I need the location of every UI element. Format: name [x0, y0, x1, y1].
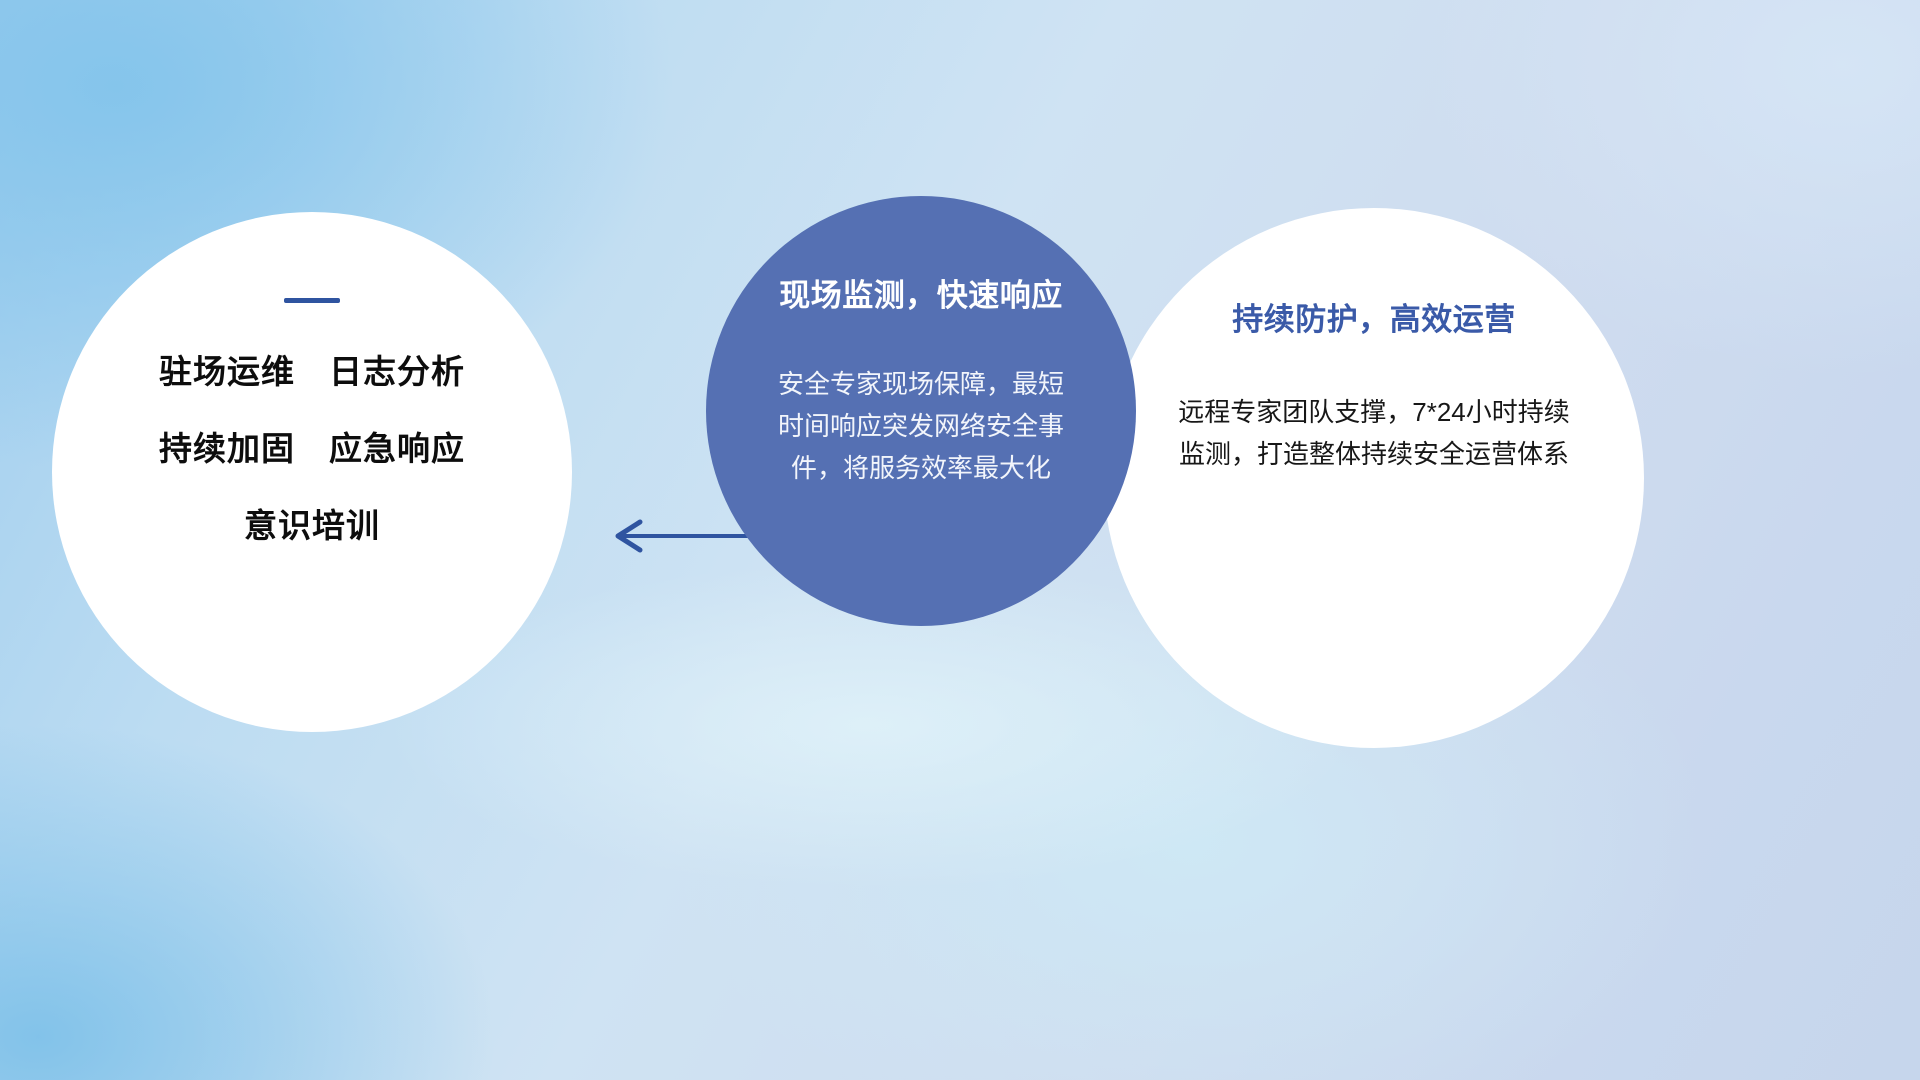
onsite-monitoring-body: 安全专家现场保障，最短时间响应突发网络安全事件，将服务效率最大化 — [771, 363, 1071, 489]
continuous-protection-title: 持续防护，高效运营 — [1232, 304, 1516, 335]
infographic-canvas: 驻场运维 日志分析 持续加固 应急响应 意识培训 现场监测，快速响应 安全专家现… — [0, 0, 1920, 1080]
capability-line-3: 意识培训 — [244, 509, 380, 542]
capabilities-circle: 驻场运维 日志分析 持续加固 应急响应 意识培训 — [52, 212, 572, 732]
continuous-protection-circle: 持续防护，高效运营 远程专家团队支撑，7*24小时持续监测，打造整体持续安全运营… — [1104, 208, 1644, 748]
onsite-monitoring-title: 现场监测，快速响应 — [779, 280, 1063, 311]
divider-dash — [284, 298, 340, 303]
continuous-protection-body: 远程专家团队支撑，7*24小时持续监测，打造整体持续安全运营体系 — [1174, 391, 1574, 475]
onsite-monitoring-circle: 现场监测，快速响应 安全专家现场保障，最短时间响应突发网络安全事件，将服务效率最… — [706, 196, 1136, 626]
capability-line-1: 驻场运维 日志分析 — [159, 355, 465, 388]
capability-line-2: 持续加固 应急响应 — [159, 432, 465, 465]
